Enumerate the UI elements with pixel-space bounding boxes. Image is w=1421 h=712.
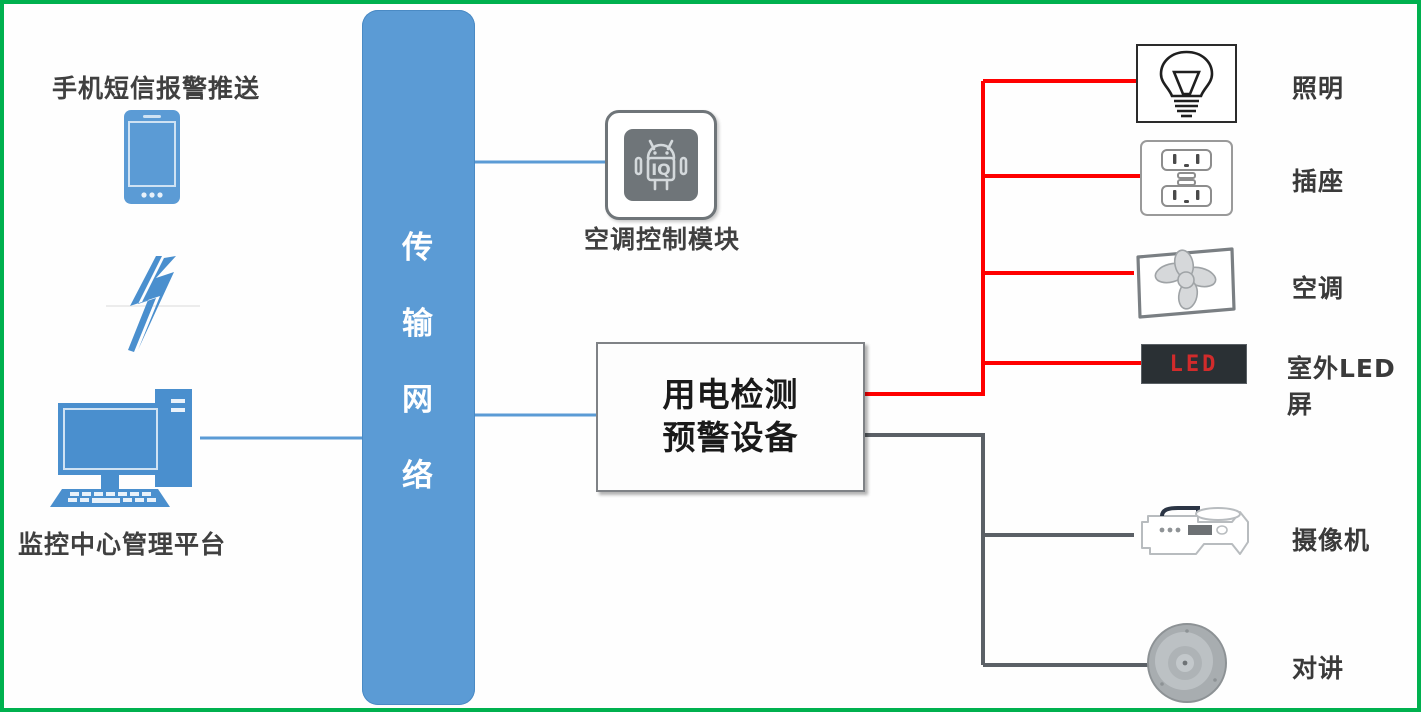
light-bulb-icon xyxy=(1136,44,1237,123)
net-char-2: 网 xyxy=(362,362,475,438)
gray-bus-trunk xyxy=(861,435,983,665)
device-label-aircon: 空调 xyxy=(1292,269,1344,305)
desktop-computer-icon xyxy=(44,387,214,509)
monitoring-platform-label: 监控中心管理平台 xyxy=(18,525,226,561)
electricity-detection-device-box[interactable]: 用电检测 预警设备 xyxy=(596,342,865,492)
ac-control-module-label: 空调控制模块 xyxy=(584,220,740,256)
diagram-canvas: 手机短信报警推送 监控中心管理平台 xyxy=(0,0,1421,712)
power-socket-icon xyxy=(1140,140,1233,216)
ac-control-module[interactable]: IQ xyxy=(605,110,717,220)
detect-box-line1: 用电检测 xyxy=(663,374,799,417)
device-label-intercom: 对讲 xyxy=(1292,649,1344,685)
transmission-network-label: 传 输 网 络 xyxy=(362,210,475,514)
mobile-phone-icon xyxy=(122,108,182,206)
net-char-0: 传 xyxy=(362,210,475,286)
sms-alert-label: 手机短信报警推送 xyxy=(52,69,260,105)
transmission-network-bar[interactable]: 传 输 网 络 xyxy=(362,10,475,705)
lightning-bolt-icon xyxy=(104,254,202,354)
net-char-3: 络 xyxy=(362,438,475,514)
device-label-camera: 摄像机 xyxy=(1292,521,1370,557)
video-camera-icon xyxy=(1136,504,1266,562)
net-char-1: 输 xyxy=(362,286,475,362)
red-bus-trunk xyxy=(861,81,983,394)
led-screen-icon: LED xyxy=(1141,344,1247,384)
device-label-lighting: 照明 xyxy=(1292,69,1344,105)
led-screen-text: LED xyxy=(1170,352,1219,377)
detect-box-line2: 预警设备 xyxy=(663,417,799,460)
svg-text:IQ: IQ xyxy=(651,160,671,179)
intercom-speaker-icon xyxy=(1146,622,1228,704)
air-conditioner-fan-icon xyxy=(1132,247,1240,319)
device-label-socket: 插座 xyxy=(1292,162,1344,198)
android-robot-iq-icon: IQ xyxy=(624,129,698,201)
device-label-led-screen: 室外LED屏 xyxy=(1287,349,1417,421)
